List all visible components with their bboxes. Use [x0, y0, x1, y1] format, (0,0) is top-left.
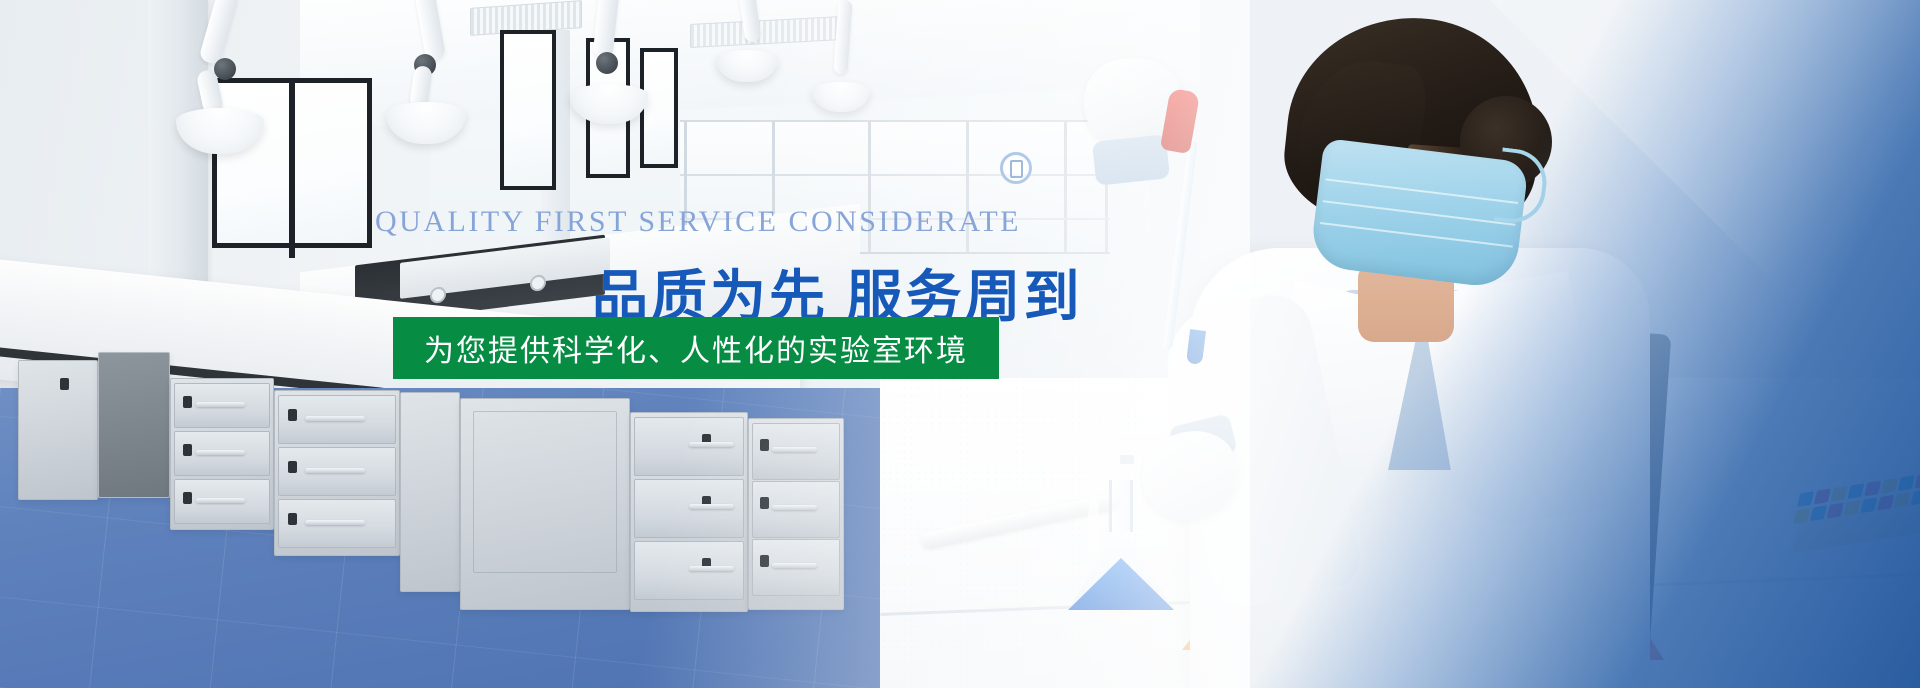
banner-subtitle-bar: 为您提供科学化、人性化的实验室环境 — [393, 317, 999, 379]
banner-eyebrow-english: QUALITY FIRST SERVICE CONSIDERATE — [368, 205, 1028, 239]
banner-subtitle-text: 为您提供科学化、人性化的实验室环境 — [424, 326, 968, 370]
hero-banner: QUALITY FIRST SERVICE CONSIDERATE 品质为先 服… — [0, 0, 1920, 688]
banner-text-block: QUALITY FIRST SERVICE CONSIDERATE 品质为先 服… — [0, 0, 1920, 688]
